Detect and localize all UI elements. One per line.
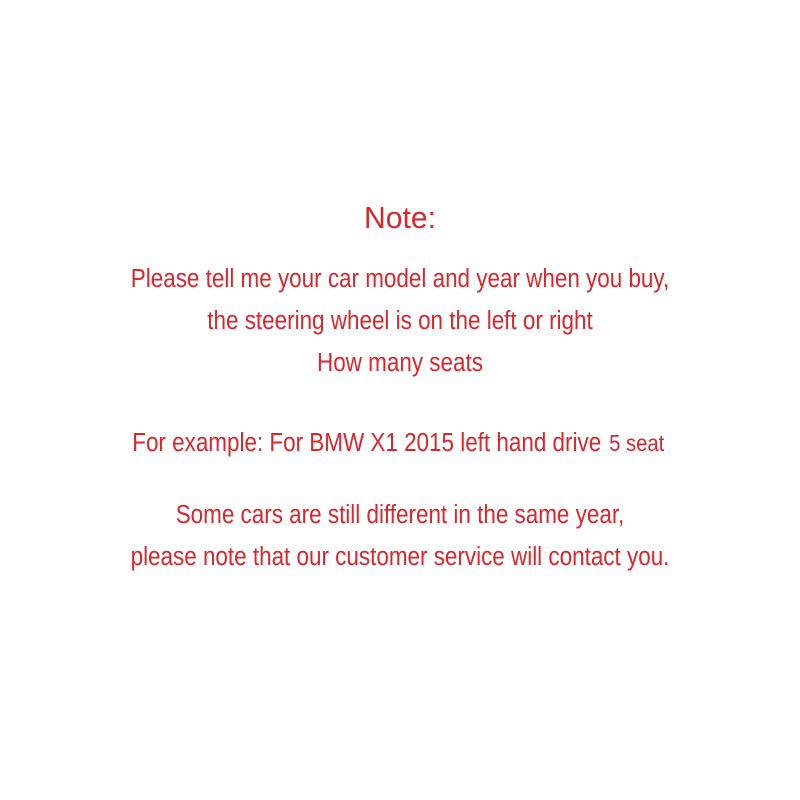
note-closing-line-2: please note that our customer service wi… bbox=[83, 536, 717, 578]
note-closing-line-1: Some cars are still different in the sam… bbox=[83, 494, 717, 536]
note-example-line: For example: For BMW X1 2015 left hand d… bbox=[81, 422, 715, 464]
note-text-block: Note: Please tell me your car model and … bbox=[40, 198, 760, 578]
note-instruction-line-2: the steering wheel is on the left or rig… bbox=[83, 300, 717, 342]
note-card: Note: Please tell me your car model and … bbox=[0, 0, 800, 800]
section-gap-2 bbox=[40, 464, 760, 494]
note-instruction-line-3: How many seats bbox=[83, 342, 717, 384]
note-example-prefix: For example: For BMW X1 2015 left hand d… bbox=[132, 429, 601, 457]
heading-spacer bbox=[40, 238, 760, 258]
section-gap-1 bbox=[40, 384, 760, 420]
note-heading: Note: bbox=[51, 198, 749, 238]
note-instruction-line-1: Please tell me your car model and year w… bbox=[83, 258, 717, 300]
note-example-seat-count: 5 seat bbox=[609, 422, 664, 464]
